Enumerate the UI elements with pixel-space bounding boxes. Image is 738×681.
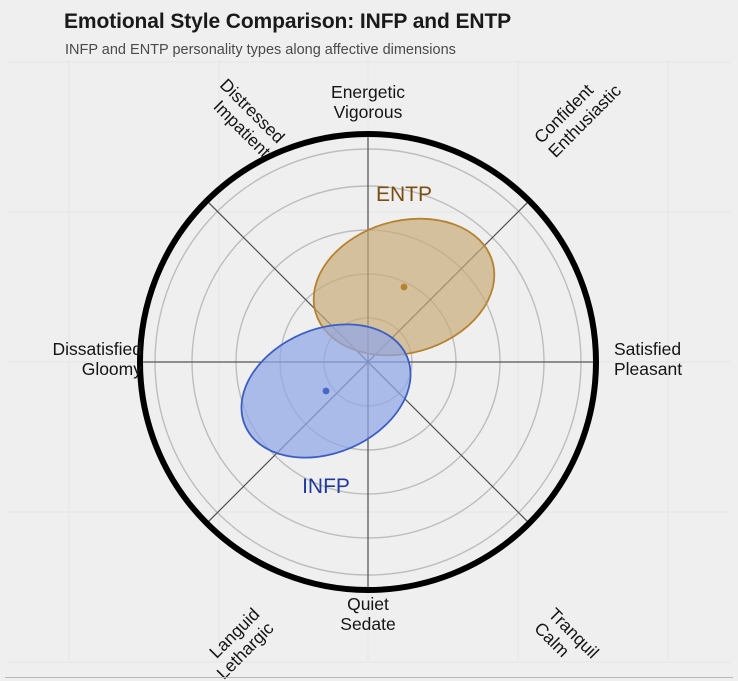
axis-label-satisfied-pleasant: Satisfied Pleasant bbox=[614, 339, 682, 380]
axis-label-line1: Quiet bbox=[340, 594, 395, 614]
series-label-infp: INFP bbox=[302, 475, 350, 499]
series-label-entp: ENTP bbox=[376, 183, 432, 207]
axis-label-dissatisfied-gloomy: Dissatisfied Gloomy bbox=[53, 339, 142, 380]
series-center-dot-entp bbox=[401, 284, 408, 291]
chart-figure: Emotional Style Comparison: INFP and ENT… bbox=[0, 0, 738, 681]
axis-label-line2: Sedate bbox=[340, 614, 395, 634]
axis-label-line2: Gloomy bbox=[53, 359, 142, 379]
axis-label-quiet-sedate: Quiet Sedate bbox=[340, 594, 395, 635]
axis-label-line2: Vigorous bbox=[331, 102, 405, 122]
axis-label-line1: Energetic bbox=[331, 82, 405, 102]
axis-label-line1: Dissatisfied bbox=[53, 339, 142, 359]
axis-label-line2: Pleasant bbox=[614, 359, 682, 379]
axis-label-line1: Satisfied bbox=[614, 339, 682, 359]
bottom-divider bbox=[5, 677, 733, 678]
series-center-dot-infp bbox=[323, 388, 330, 395]
axis-label-energetic-vigorous: Energetic Vigorous bbox=[331, 82, 405, 123]
